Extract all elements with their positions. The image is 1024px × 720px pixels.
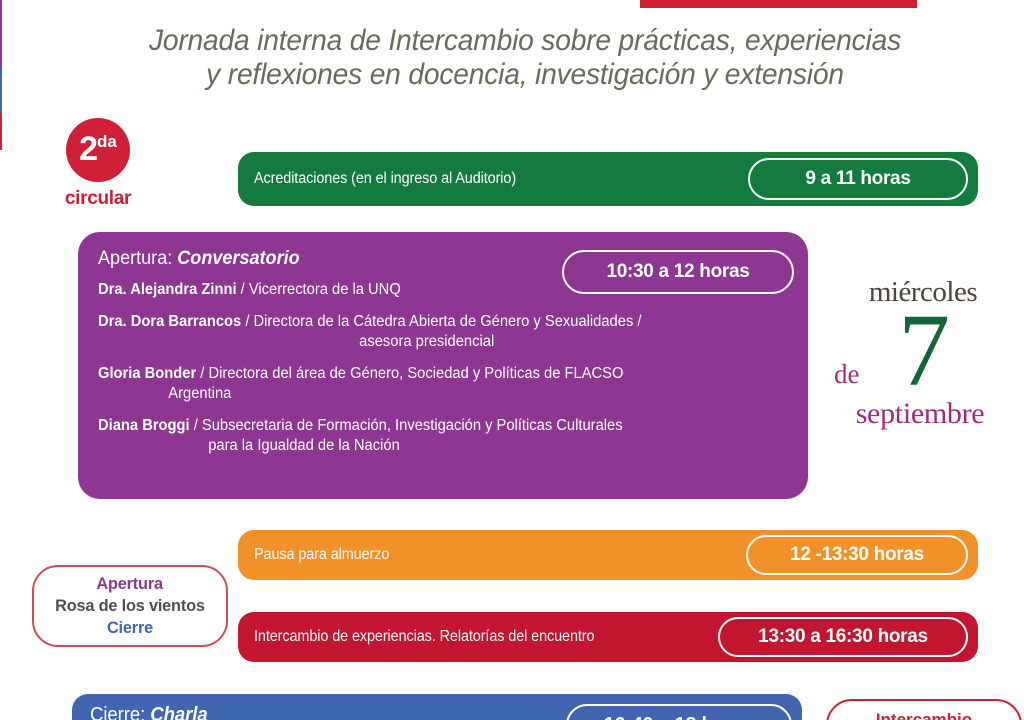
- session-bar-pausa: Pausa para almuerzo 12 -13:30 horas: [238, 530, 978, 580]
- page-title: Jornada interna de Intercambio sobre prá…: [69, 24, 981, 92]
- session-label-cierre-prefix: Cierre:: [90, 704, 150, 720]
- connector-line-blue: [0, 66, 2, 113]
- circular-badge-suffix: da: [97, 133, 117, 150]
- conversatorio-heading-prefix: Apertura:: [98, 248, 177, 269]
- session-label-intercambio: Intercambio de experiencias. Relatorías …: [254, 628, 594, 646]
- apertura-box-line-2: Rosa de los vientos: [55, 595, 205, 617]
- speaker-row: Diana Broggi / Subsecretaria de Formació…: [98, 416, 755, 456]
- circular-badge-number: 2: [79, 132, 97, 166]
- top-red-rule: [640, 0, 917, 8]
- speaker-role: / Subsecretaria de Formación, Investigac…: [190, 417, 623, 434]
- date-de-word: de: [834, 361, 859, 388]
- speaker-role: / Directora del área de Género, Sociedad…: [196, 365, 623, 382]
- session-bar-cierre: Cierre: Charla 16:40 a 18 horas: [72, 694, 802, 720]
- conversatorio-heading-emphasis: Conversatorio: [177, 248, 299, 269]
- speaker-name: Dra. Dora Barrancos: [98, 313, 241, 330]
- circular-badge-circle: 2da: [66, 118, 130, 182]
- session-block-conversatorio: Apertura: Conversatorio Dra. Alejandra Z…: [78, 232, 808, 499]
- speaker-row: Dra. Dora Barrancos / Directora de la Cá…: [98, 312, 755, 352]
- session-label-cierre: Cierre: Charla: [90, 694, 208, 720]
- session-label-acreditaciones: Acreditaciones (en el ingreso al Auditor…: [254, 170, 516, 188]
- title-line-1: Jornada interna de Intercambio sobre prá…: [149, 24, 901, 57]
- circular-badge-label: circular: [38, 188, 158, 210]
- session-time-intercambio: 13:30 a 16:30 horas: [718, 617, 968, 657]
- session-time-cierre: 16:40 a 18 horas: [566, 704, 792, 720]
- speaker-name: Gloria Bonder: [98, 365, 196, 382]
- speaker-role-cont: Argentina: [98, 384, 755, 404]
- session-time-conversatorio: 10:30 a 12 horas: [562, 250, 794, 294]
- session-label-cierre-emphasis: Charla: [150, 704, 207, 720]
- session-time-acreditaciones: 9 a 11 horas: [748, 158, 968, 200]
- session-bar-acreditaciones: Acreditaciones (en el ingreso al Auditor…: [238, 152, 978, 206]
- apertura-box-line-1: Apertura: [97, 573, 163, 595]
- event-date-block: miércoles 7 de septiembre: [824, 278, 1016, 429]
- connector-line-purple: [0, 0, 2, 66]
- speaker-role-cont: asesora presidencial: [98, 332, 755, 352]
- poster-canvas: Jornada interna de Intercambio sobre prá…: [0, 0, 1024, 720]
- apertura-box-line-3: Cierre: [107, 617, 153, 639]
- speaker-name: Diana Broggi: [98, 417, 190, 434]
- apertura-rosa-cierre-box: Apertura Rosa de los vientos Cierre: [32, 565, 228, 647]
- session-label-pausa: Pausa para almuerzo: [254, 546, 389, 564]
- intercambio-outline-box-label: Intercambio: [876, 701, 972, 720]
- speaker-name: Dra. Alejandra Zinni: [98, 281, 237, 298]
- date-day-number: 7: [898, 299, 950, 403]
- circular-badge: 2da circular: [38, 118, 158, 210]
- title-line-2: y reflexiones en docencia, investigación…: [69, 58, 981, 92]
- session-bar-intercambio: Intercambio de experiencias. Relatorías …: [238, 612, 978, 662]
- intercambio-outline-box: Intercambio: [826, 699, 1022, 720]
- speaker-role: / Vicerrectora de la UNQ: [237, 281, 401, 298]
- speaker-row: Gloria Bonder / Directora del área de Gé…: [98, 364, 755, 404]
- session-time-pausa: 12 -13:30 horas: [746, 535, 968, 575]
- connector-line-red: [0, 113, 2, 150]
- speaker-role-cont: para la Igualdad de la Nación: [98, 436, 755, 456]
- date-day-row: 7 de: [824, 307, 1016, 403]
- speaker-role: / Directora de la Cátedra Abierta de Gén…: [241, 313, 641, 330]
